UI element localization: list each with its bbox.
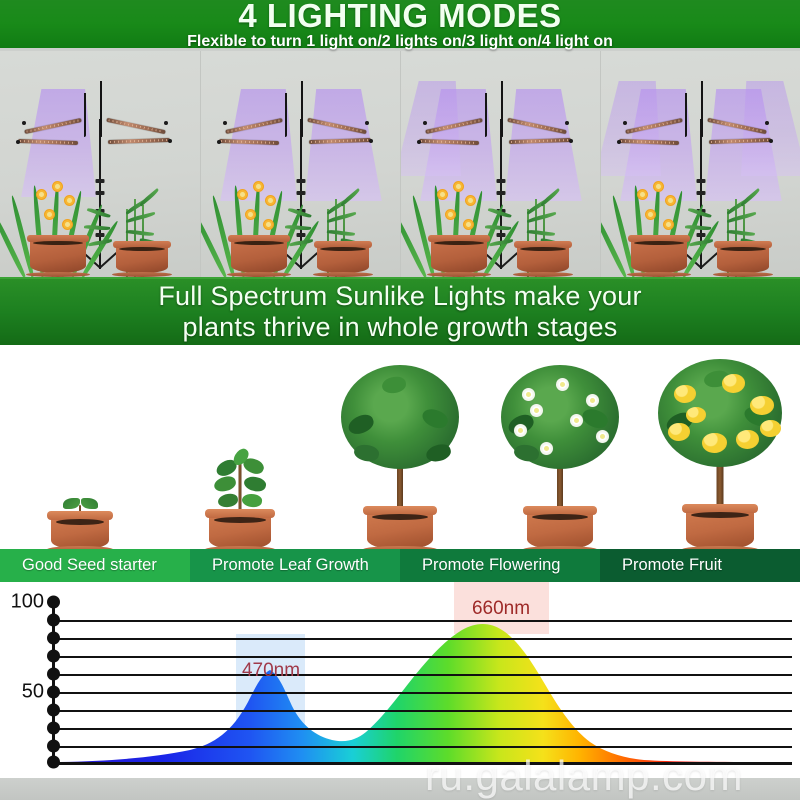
fruit	[686, 407, 706, 423]
stage-label-flowering: Promote Flowering	[400, 549, 600, 582]
light-cone	[505, 89, 585, 201]
growth-stage-flowering	[480, 345, 640, 553]
stage-label-text: Promote Fruit	[622, 556, 722, 575]
stage-label-seed-starter: Good Seed starter	[0, 549, 190, 582]
blossom	[596, 430, 609, 443]
gooseneck-arm	[285, 93, 287, 137]
fruit	[674, 385, 696, 403]
fruit	[702, 433, 727, 453]
spectrum-curve	[0, 582, 800, 800]
y-axis-label-100: 100	[11, 591, 44, 614]
y-axis-label-50: 50	[22, 681, 44, 704]
gooseneck-arm	[485, 93, 487, 137]
blossom	[556, 378, 569, 391]
y-tick	[47, 596, 60, 609]
gooseneck-arm	[685, 93, 687, 137]
gooseneck-arm	[100, 81, 102, 137]
annotation-470nm: 470nm	[242, 660, 300, 682]
gridline	[52, 674, 792, 676]
gooseneck-arm	[301, 81, 303, 137]
fruit	[722, 374, 745, 393]
mode-cell-4-lights-on	[600, 51, 800, 277]
gooseneck-arm	[501, 81, 503, 137]
blossom	[540, 442, 553, 455]
gridline	[52, 710, 792, 712]
y-tick	[47, 722, 60, 735]
product-infographic: 4 LIGHTING MODES Flexible to turn 1 ligh…	[0, 0, 800, 800]
gridline	[52, 692, 792, 694]
y-tick	[47, 740, 60, 753]
y-tick	[47, 704, 60, 717]
mode-cell-3-lights-on	[400, 51, 600, 277]
growth-stage-fruit	[640, 345, 800, 553]
gridline	[52, 620, 792, 622]
mode-cell-1-light-on	[0, 51, 200, 277]
gooseneck-arm	[84, 93, 86, 137]
stage-label-fruit: Promote Fruit	[600, 549, 800, 582]
gridline	[52, 656, 792, 658]
gooseneck-arm	[701, 81, 703, 137]
growth-stage-seedling	[0, 345, 160, 553]
gridline	[52, 638, 792, 640]
blossom	[522, 388, 535, 401]
blossom	[514, 424, 527, 437]
page-title: 4 LIGHTING MODES	[0, 0, 800, 33]
growth-stage-sapling	[160, 345, 320, 553]
blossom	[570, 414, 583, 427]
led-bar	[108, 138, 170, 144]
y-tick	[47, 632, 60, 645]
light-cone	[305, 89, 385, 201]
y-tick	[47, 668, 60, 681]
full-spectrum-slogan: Full Spectrum Sunlike Lights make your p…	[0, 277, 800, 345]
annotation-660nm: 660nm	[472, 598, 530, 620]
spectrum-chart: 100 50 470nm 660nm	[0, 582, 800, 800]
fruit	[750, 396, 774, 415]
fruit	[736, 430, 759, 449]
lighting-modes-subtitle: Flexible to turn 1 light on/2 lights on/…	[0, 33, 800, 51]
y-tick	[47, 756, 60, 769]
y-tick	[47, 650, 60, 663]
stage-label-text: Promote Leaf Growth	[212, 556, 369, 575]
slogan-line-1: Full Spectrum Sunlike Lights make your	[158, 281, 641, 311]
led-bar	[106, 118, 166, 134]
blossom	[530, 404, 543, 417]
growth-stages-illustration	[0, 345, 800, 553]
stage-label-leaf-growth: Promote Leaf Growth	[190, 549, 400, 582]
slogan-line-2: plants thrive in whole growth stages	[183, 312, 618, 342]
blossom	[586, 394, 599, 407]
lighting-modes-strip	[0, 48, 800, 277]
stage-label-text: Good Seed starter	[22, 556, 157, 575]
growth-stage-label-bar: Good Seed starter Promote Leaf Growth Pr…	[0, 549, 800, 582]
y-tick	[47, 686, 60, 699]
growth-stage-leaf-growth	[320, 345, 480, 553]
gridline	[52, 746, 792, 748]
fruit	[668, 423, 690, 441]
fruit	[760, 420, 781, 437]
gridline	[52, 728, 792, 730]
stage-label-text: Promote Flowering	[422, 556, 560, 575]
mode-cell-2-lights-on	[200, 51, 400, 277]
y-tick	[47, 614, 60, 627]
x-axis	[52, 762, 792, 765]
